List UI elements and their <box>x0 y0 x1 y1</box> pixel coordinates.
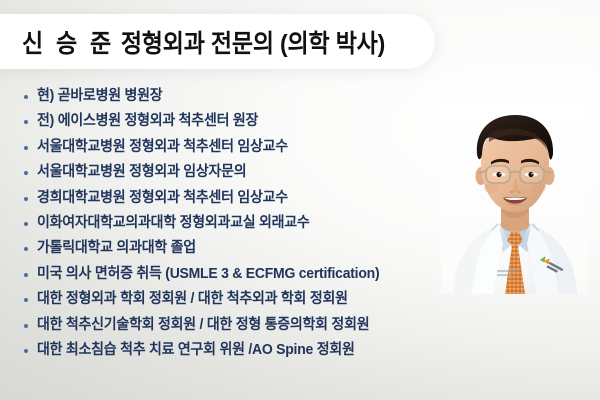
page-title: 신 승 준정형외과 전문의 (의학 박사) <box>22 24 385 60</box>
bullet-dot-icon <box>24 171 28 175</box>
bullet-dot-icon <box>24 298 28 302</box>
list-item-label: 대한 척추신기술학회 정회원 / 대한 정형 통증의학회 정회원 <box>37 315 478 335</box>
bullet-dot-icon <box>24 95 28 99</box>
list-item: 경희대학교병원 정형외과 척추센터 임상교수 <box>24 188 494 213</box>
list-item: 대한 정형외과 학회 정회원 / 대한 척추외과 학회 정회원 <box>24 289 494 314</box>
bullet-dot-icon <box>24 273 28 277</box>
list-item-label: 대한 정형외과 학회 정회원 / 대한 척추외과 학회 정회원 <box>37 289 478 309</box>
bullet-dot-icon <box>24 197 28 201</box>
list-item-label: 가톨릭대학교 의과대학 졸업 <box>37 238 478 258</box>
bullet-dot-icon <box>24 120 28 124</box>
list-item-label: 미국 의사 면허증 취득 (USMLE 3 & ECFMG certificat… <box>37 264 478 284</box>
list-item-label: 현) 곧바로병원 병원장 <box>37 86 478 106</box>
career-list: 현) 곧바로병원 병원장 전) 에이스병원 정형외과 척추센터 원장 서울대학교… <box>24 86 494 365</box>
list-item: 미국 의사 면허증 취득 (USMLE 3 & ECFMG certificat… <box>24 264 494 289</box>
bullet-dot-icon <box>24 247 28 251</box>
bullet-dot-icon <box>24 324 28 328</box>
list-item-label: 전) 에이스병원 정형외과 척추센터 원장 <box>37 111 478 131</box>
list-item: 가톨릭대학교 의과대학 졸업 <box>24 238 494 263</box>
list-item-label: 대한 최소침습 척추 치료 연구회 위원 /AO Spine 정회원 <box>37 340 478 360</box>
profile-slide: 신 승 준정형외과 전문의 (의학 박사) 현) 곧바로병원 병원장 전) 에이… <box>0 0 600 400</box>
doctor-name: 신 승 준 <box>22 30 114 58</box>
list-item: 전) 에이스병원 정형외과 척추센터 원장 <box>24 111 494 136</box>
list-item: 서울대학교병원 정형외과 척추센터 임상교수 <box>24 137 494 162</box>
bullet-dot-icon <box>24 146 28 150</box>
list-item-label: 서울대학교병원 정형외과 척추센터 임상교수 <box>37 137 478 157</box>
bullet-dot-icon <box>24 349 28 353</box>
list-item-label: 이화여자대학교의과대학 정형외과교실 외래교수 <box>37 213 478 233</box>
list-item: 현) 곧바로병원 병원장 <box>24 86 494 111</box>
list-item-label: 서울대학교병원 정형외과 임상자문의 <box>37 162 478 182</box>
list-item-label: 경희대학교병원 정형외과 척추센터 임상교수 <box>37 188 478 208</box>
list-item: 서울대학교병원 정형외과 임상자문의 <box>24 162 494 187</box>
list-item: 대한 최소침습 척추 치료 연구회 위원 /AO Spine 정회원 <box>24 340 494 365</box>
list-item: 이화여자대학교의과대학 정형외과교실 외래교수 <box>24 213 494 238</box>
bullet-dot-icon <box>24 222 28 226</box>
doctor-credential: 정형외과 전문의 (의학 박사) <box>121 30 385 58</box>
list-item: 대한 척추신기술학회 정회원 / 대한 정형 통증의학회 정회원 <box>24 315 494 340</box>
